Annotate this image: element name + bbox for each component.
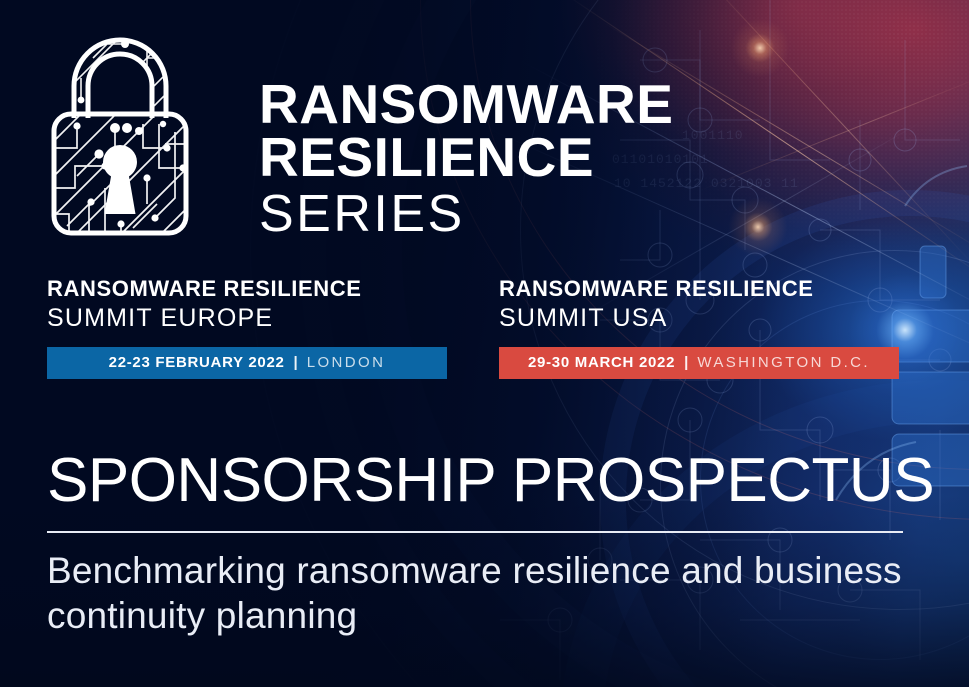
event-badge-separator-europe: |: [294, 354, 298, 371]
event-subtitle-europe: SUMMIT EUROPE: [47, 304, 447, 333]
event-list: RANSOMWARE RESILIENCE SUMMIT EUROPE 22-2…: [47, 277, 899, 379]
page-title: SPONSORSHIP PROSPECTUS: [47, 450, 934, 512]
background-digits-1: 1001110: [682, 128, 744, 143]
event-card-europe: RANSOMWARE RESILIENCE SUMMIT EUROPE 22-2…: [47, 277, 447, 379]
padlock-circuit-icon: [47, 28, 193, 240]
series-logo: RANSOMWARE RESILIENCE SERIES: [47, 28, 673, 244]
event-date-usa: 29-30 MARCH 2022: [528, 354, 675, 371]
event-badge-usa[interactable]: 29-30 MARCH 2022 | WASHINGTON D.C.: [499, 347, 899, 379]
event-city-usa: WASHINGTON D.C.: [697, 354, 870, 371]
event-date-europe: 22-23 FEBRUARY 2022: [109, 354, 285, 371]
event-card-usa: RANSOMWARE RESILIENCE SUMMIT USA 29-30 M…: [499, 277, 899, 379]
brand-line-series: SERIES: [259, 185, 673, 245]
brand-line-resilience: RESILIENCE: [259, 131, 673, 184]
event-subtitle-usa: SUMMIT USA: [499, 304, 899, 333]
event-city-europe: LONDON: [307, 354, 386, 371]
event-title-europe: RANSOMWARE RESILIENCE: [47, 277, 447, 302]
page-subtitle: Benchmarking ransomware resilience and b…: [47, 548, 927, 638]
flare-orange-lower: [726, 195, 790, 259]
brand-line-ransomware: RANSOMWARE: [259, 78, 673, 131]
brand-wordmark: RANSOMWARE RESILIENCE SERIES: [259, 28, 673, 244]
flare-orange-upper: [728, 16, 792, 80]
event-title-usa: RANSOMWARE RESILIENCE: [499, 277, 899, 302]
event-badge-separator-usa: |: [684, 354, 688, 371]
title-divider: [47, 531, 903, 533]
event-badge-europe[interactable]: 22-23 FEBRUARY 2022 | LONDON: [47, 347, 447, 379]
prospectus-cover: 1001110 01101010101 10 1452122 0321003 1…: [0, 0, 969, 687]
